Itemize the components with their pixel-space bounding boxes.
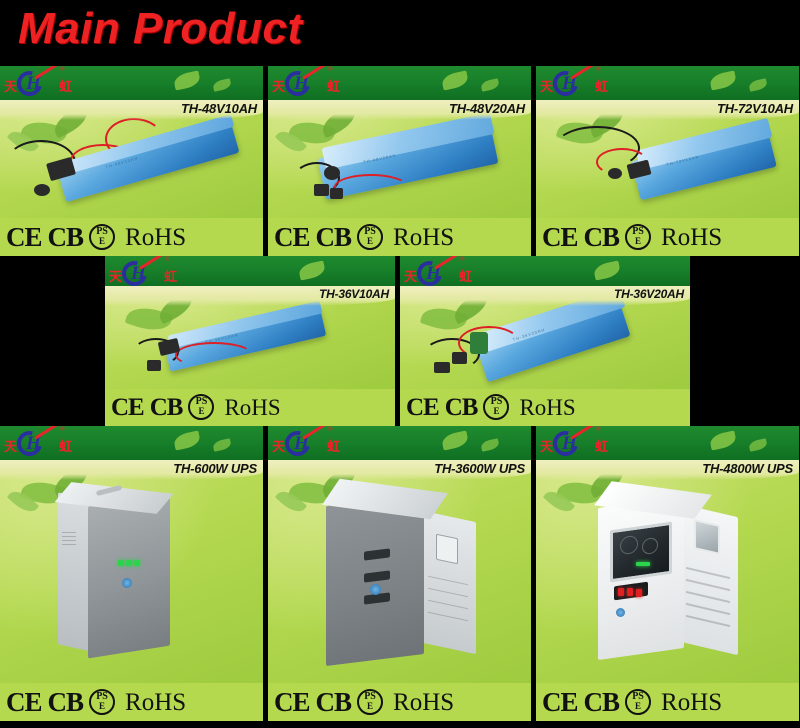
logo-trademark: ® (60, 427, 64, 433)
card-header: 天 H ® 虹 (105, 256, 395, 286)
brand-logo: 天 H ® 虹 (404, 257, 496, 286)
leaf-icon (213, 438, 233, 452)
product-photo: TH-3600W UPS (268, 460, 531, 683)
logo-cn-right: 虹 (164, 266, 177, 285)
product-photo: TH-4800W UPS (536, 460, 799, 683)
ce-mark: CE (542, 689, 578, 716)
leaf-icon (441, 430, 470, 450)
ce-mark: CE (274, 224, 310, 251)
cb-mark: CB (584, 224, 620, 251)
logo-cn-right: 虹 (59, 76, 72, 95)
ce-mark: CE (111, 394, 144, 421)
certification-marks: CE CB PS E RoHS (536, 218, 799, 256)
leaf-icon (709, 430, 738, 450)
logo-cn-left: 天 (272, 436, 285, 455)
brand-logo: 天 H ® 虹 (272, 67, 364, 99)
card-header: 天 H ® 虹 (400, 256, 690, 286)
leaf-icon (709, 70, 738, 90)
cb-mark: CB (48, 224, 84, 251)
logo-trademark: ® (596, 67, 600, 73)
pse-mark-icon: PS E (625, 224, 651, 250)
product-card-th-4800w-ups[interactable]: 天 H ® 虹 (536, 426, 799, 721)
leaf-icon (298, 260, 327, 280)
certification-marks: CE CB PS E RoHS (105, 388, 395, 426)
product-card-th-72v10ah[interactable]: 天 H ® 虹 TH-72V10AH (536, 66, 799, 256)
card-header: 天 H ® 虹 (0, 66, 263, 100)
certification-marks: CE CB PS E RoHS (0, 218, 263, 256)
pse-mark-icon: PS E (89, 224, 115, 250)
logo-cn-left: 天 (404, 266, 417, 285)
product-card-th-600w-ups[interactable]: 天 H ® 虹 (0, 426, 263, 721)
logo-trademark: ® (328, 427, 332, 433)
product-photo: TH-48V20AH TH-48V20AH (268, 100, 531, 218)
product-card-th-48v10ah[interactable]: 天 H ® 虹 TH-48V10AH (0, 66, 263, 256)
ce-mark: CE (542, 224, 578, 251)
logo-cn-right: 虹 (595, 436, 608, 455)
logo-cn-right: 虹 (459, 266, 472, 285)
ups-row: 天 H ® 虹 (0, 426, 800, 721)
logo-cn-left: 天 (272, 76, 285, 95)
pse-mark-icon: PS E (188, 394, 214, 420)
certification-marks: CE CB PS E RoHS (536, 683, 799, 721)
leaf-icon (593, 260, 622, 280)
rohs-mark: RoHS (393, 225, 454, 250)
logo-trademark: ® (596, 427, 600, 433)
logo-cn-left: 天 (4, 76, 17, 95)
leaf-icon (481, 438, 501, 452)
logo-trademark: ® (328, 67, 332, 73)
pse-mark-icon: PS E (89, 689, 115, 715)
ce-mark: CE (274, 689, 310, 716)
logo-cn-left: 天 (109, 266, 122, 285)
rohs-mark: RoHS (393, 690, 454, 715)
leaf-icon (481, 78, 501, 92)
product-card-th-48v20ah[interactable]: 天 H ® 虹 TH-48V20AH (268, 66, 531, 256)
pse-mark-icon: PS E (483, 394, 509, 420)
product-card-th-36v10ah[interactable]: 天 H ® 虹 TH-36V10AH TH-36V10AH (105, 256, 395, 426)
leaf-icon (173, 430, 202, 450)
card-header: 天 H ® 虹 (0, 426, 263, 460)
product-photo: TH-600W UPS (0, 460, 263, 683)
product-model-label: TH-4800W UPS (702, 461, 793, 476)
logo-cn-right: 虹 (59, 436, 72, 455)
page-header: Main Product (0, 0, 800, 66)
card-header: 天 H ® 虹 (268, 426, 531, 460)
ce-mark: CE (406, 394, 439, 421)
page-title: Main Product (18, 4, 303, 54)
rohs-mark: RoHS (661, 225, 722, 250)
certification-marks: CE CB PS E RoHS (400, 388, 690, 426)
logo-cn-left: 天 (4, 436, 17, 455)
rohs-mark: RoHS (125, 690, 186, 715)
logo-cn-right: 虹 (327, 436, 340, 455)
product-model-label: TH-72V10AH (717, 101, 793, 116)
product-model-label: TH-48V20AH (449, 101, 525, 116)
product-photo: TH-36V20AH TH-36V20AH (400, 286, 690, 389)
cb-mark: CB (316, 224, 352, 251)
brand-logo: 天 H ® 虹 (540, 67, 632, 99)
rohs-mark: RoHS (125, 225, 186, 250)
logo-trademark: ® (460, 257, 464, 263)
card-header: 天 H ® 虹 (268, 66, 531, 100)
leaf-icon (213, 78, 233, 92)
cb-mark: CB (150, 394, 183, 421)
pse-mark-icon: PS E (357, 689, 383, 715)
product-model-label: TH-48V10AH (181, 101, 257, 116)
product-photo: TH-36V10AH TH-36V10AH (105, 286, 395, 389)
certification-marks: CE CB PS E RoHS (268, 683, 531, 721)
brand-logo: 天 H ® 虹 (540, 427, 632, 459)
product-photo: TH-48V10AH TH-48V10AH (0, 100, 263, 218)
certification-marks: CE CB PS E RoHS (0, 683, 263, 721)
logo-cn-left: 天 (540, 76, 553, 95)
product-model-label: TH-3600W UPS (434, 461, 525, 476)
brand-logo: 天 H ® 虹 (272, 427, 364, 459)
brand-logo: 天 H ® 虹 (109, 257, 201, 286)
pse-mark-icon: PS E (357, 224, 383, 250)
cb-mark: CB (316, 689, 352, 716)
leaf-icon (441, 70, 470, 90)
card-header: 天 H ® 虹 (536, 66, 799, 100)
logo-cn-left: 天 (540, 436, 553, 455)
cb-mark: CB (584, 689, 620, 716)
rohs-mark: RoHS (224, 395, 280, 420)
leaf-icon (749, 438, 769, 452)
pse-mark-icon: PS E (625, 689, 651, 715)
battery-row-1: 天 H ® 虹 TH-48V10AH (0, 66, 800, 256)
product-card-th-3600w-ups[interactable]: 天 H ® 虹 (268, 426, 531, 721)
product-model-label: TH-600W UPS (173, 461, 257, 476)
cb-mark: CB (48, 689, 84, 716)
brand-logo: 天 H ® 虹 (4, 67, 96, 99)
logo-cn-right: 虹 (595, 76, 608, 95)
logo-cn-right: 虹 (327, 76, 340, 95)
certification-marks: CE CB PS E RoHS (268, 218, 531, 256)
ce-mark: CE (6, 224, 42, 251)
card-header: 天 H ® 虹 (536, 426, 799, 460)
product-card-th-36v20ah[interactable]: 天 H ® 虹 TH-36V20AH TH- (400, 256, 690, 426)
logo-trademark: ® (60, 67, 64, 73)
leaf-icon (749, 78, 769, 92)
product-photo: TH-72V10AH TH-72V10AH (536, 100, 799, 218)
rohs-mark: RoHS (661, 690, 722, 715)
product-model-label: TH-36V20AH (614, 287, 684, 301)
logo-trademark: ® (165, 257, 169, 263)
product-model-label: TH-36V10AH (319, 287, 389, 301)
rohs-mark: RoHS (519, 395, 575, 420)
cb-mark: CB (445, 394, 478, 421)
ce-mark: CE (6, 689, 42, 716)
leaf-icon (173, 70, 202, 90)
brand-logo: 天 H ® 虹 (4, 427, 96, 459)
battery-row-2: 天 H ® 虹 TH-36V10AH TH-36V10AH (0, 256, 800, 426)
